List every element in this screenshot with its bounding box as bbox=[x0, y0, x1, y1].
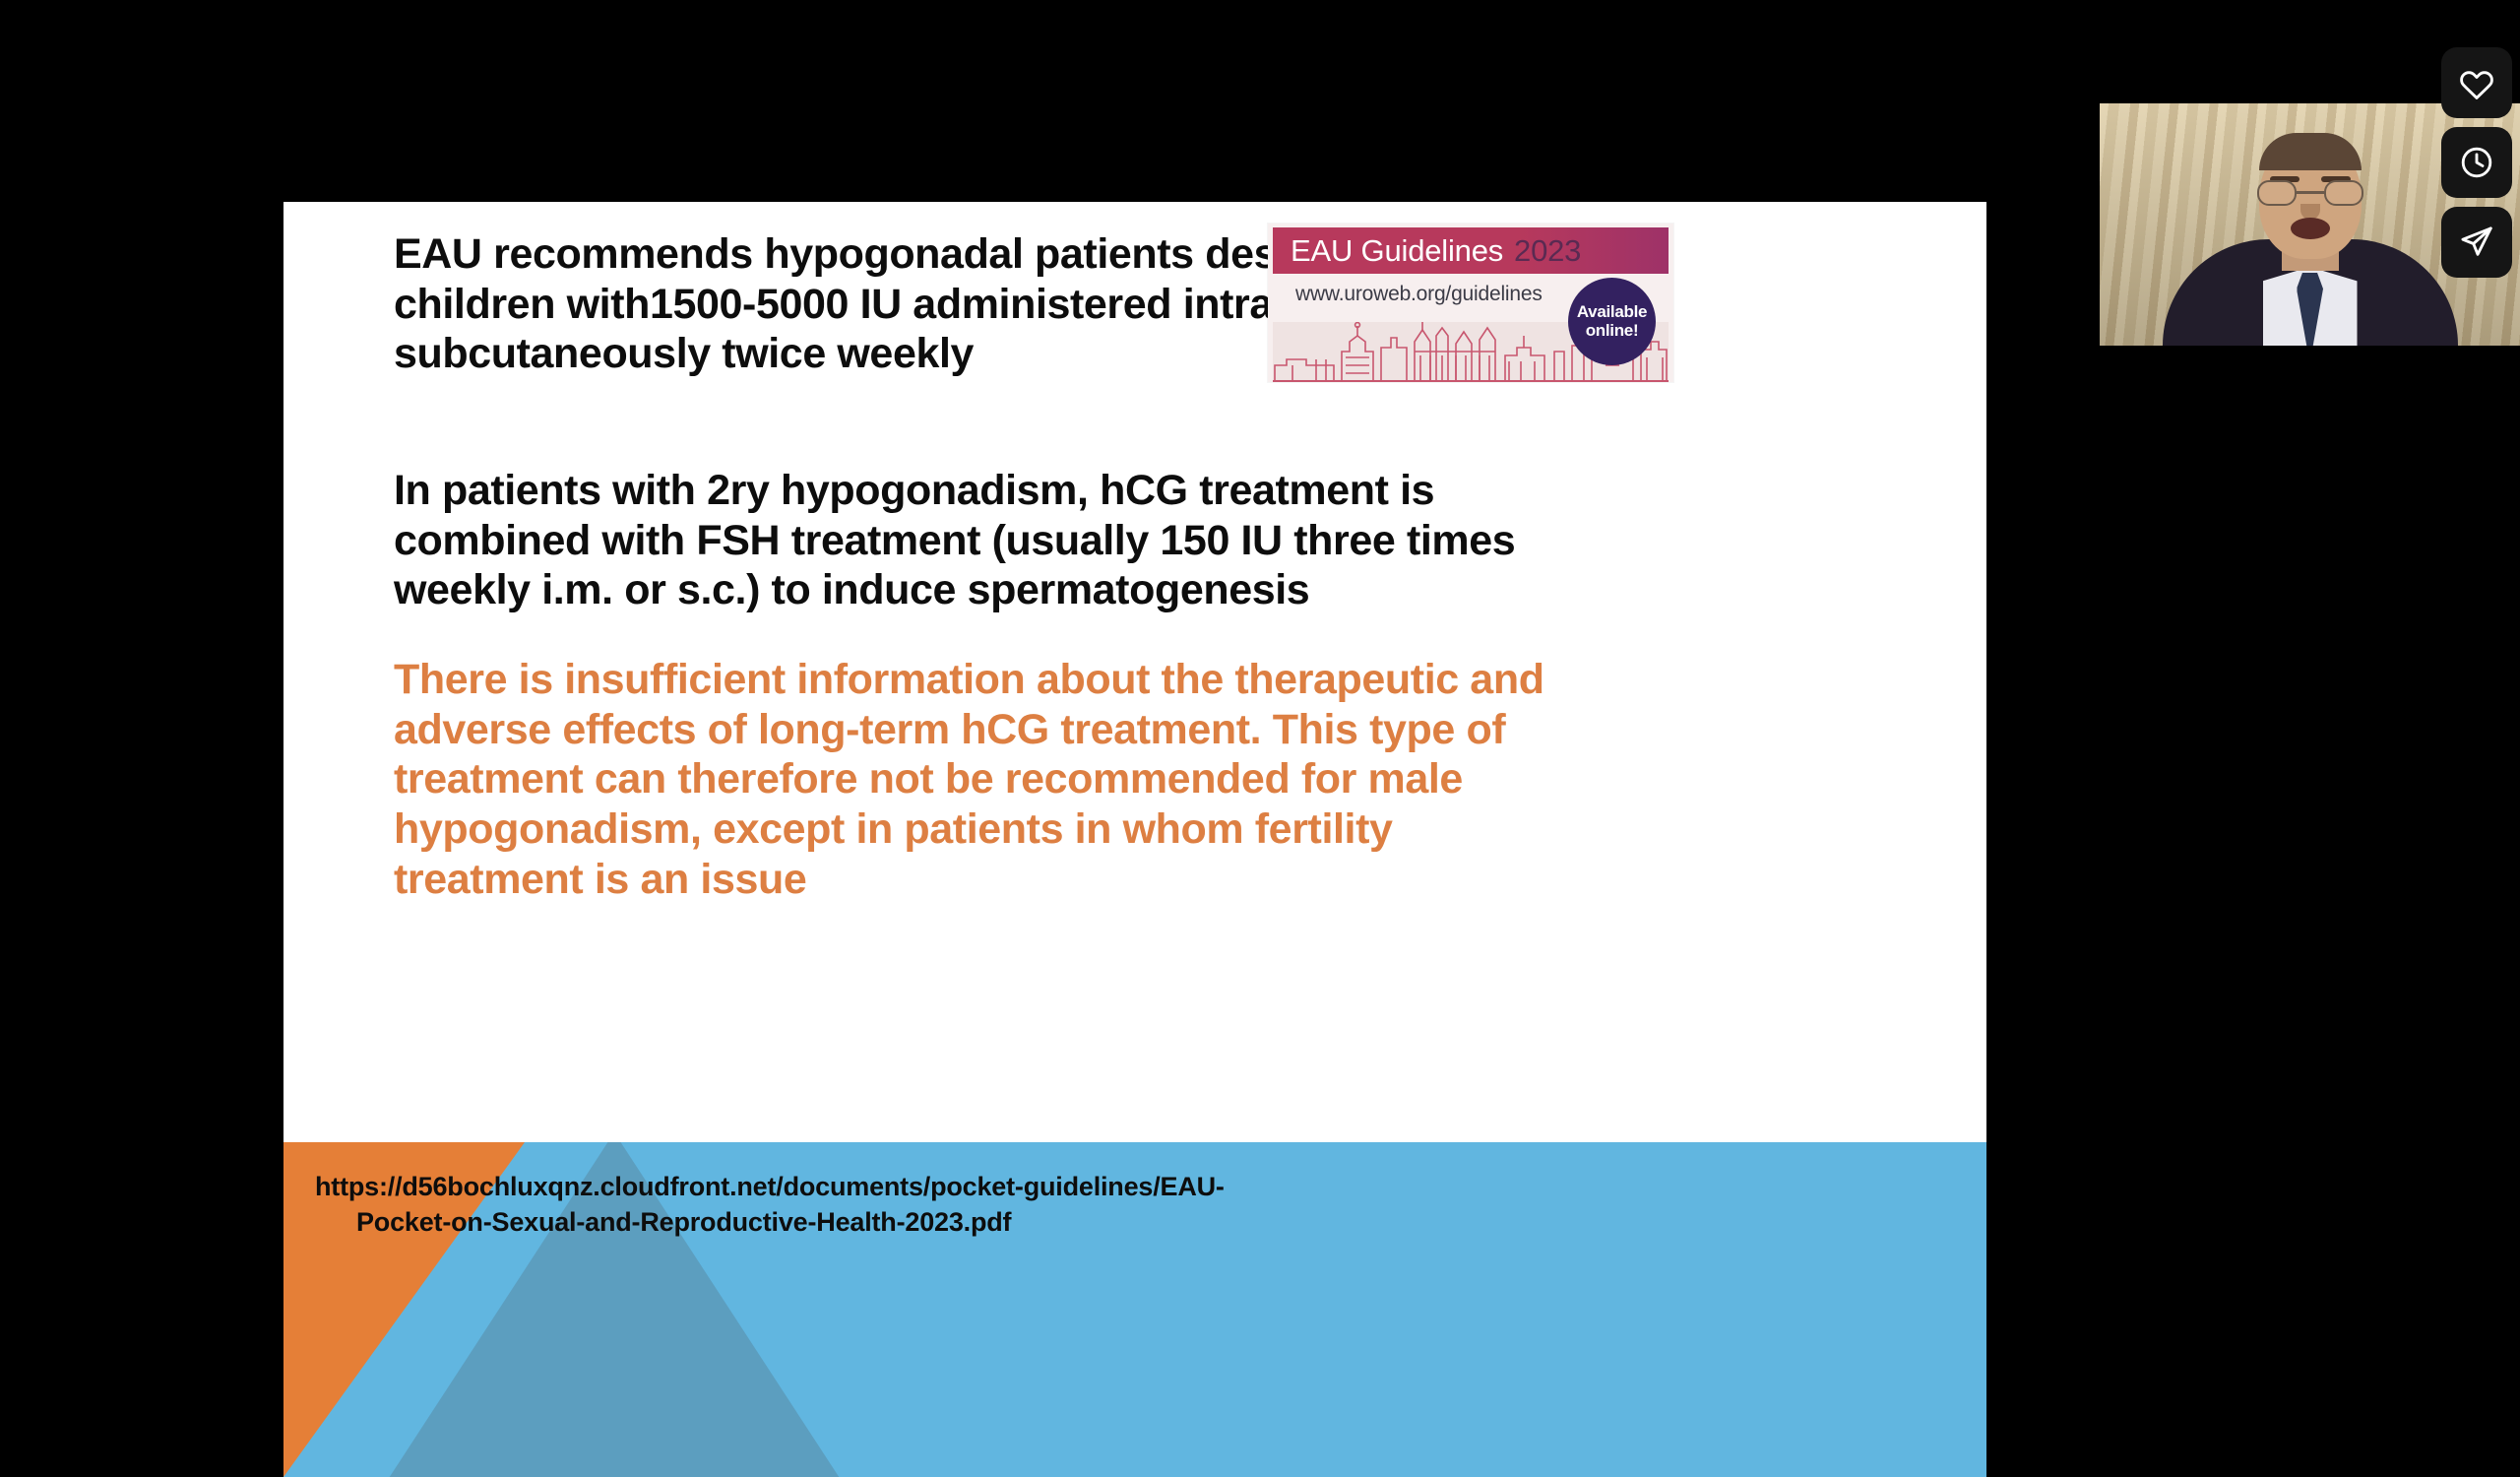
glasses-bridge bbox=[2297, 191, 2324, 194]
presenter-glasses bbox=[2257, 180, 2363, 206]
paragraph-insufficient-information: There is insufficient information about … bbox=[394, 655, 1555, 905]
eau-banner-titlebar: EAU Guidelines 2023 bbox=[1273, 227, 1669, 274]
clock-icon bbox=[2459, 145, 2494, 180]
source-url-line-1: https://d56bochluxqnz.cloudfront.net/doc… bbox=[315, 1172, 1225, 1201]
eau-banner-title: EAU Guidelines bbox=[1291, 233, 1503, 269]
presentation-slide: EAU recommends hypogonadal patients desi… bbox=[283, 202, 1986, 1477]
like-button[interactable] bbox=[2441, 47, 2512, 118]
heart-icon bbox=[2459, 65, 2494, 100]
eau-guidelines-banner: EAU Guidelines 2023 www.uroweb.org/guide… bbox=[1268, 224, 1673, 382]
eau-badge-line-1: Available bbox=[1577, 303, 1647, 322]
slide-footer-band: https://d56bochluxqnz.cloudfront.net/doc… bbox=[283, 1142, 1986, 1477]
glasses-lens-right bbox=[2324, 180, 2363, 206]
paragraph-fsh-combination: In patients with 2ry hypogonadism, hCG t… bbox=[394, 466, 1555, 615]
slide-source-url: https://d56bochluxqnz.cloudfront.net/doc… bbox=[315, 1170, 1575, 1240]
share-button[interactable] bbox=[2441, 207, 2512, 278]
eau-banner-website: www.uroweb.org/guidelines bbox=[1295, 283, 1543, 306]
eau-banner-year: 2023 bbox=[1514, 233, 1581, 269]
eau-available-online-badge: Available online! bbox=[1568, 278, 1656, 365]
action-button-rail bbox=[2441, 47, 2512, 278]
source-url-line-2: Pocket-on-Sexual-and-Reproductive-Health… bbox=[315, 1205, 1575, 1241]
eau-badge-line-2: online! bbox=[1586, 322, 1639, 341]
slide-content-area: EAU recommends hypogonadal patients desi… bbox=[283, 202, 1986, 1142]
send-icon bbox=[2459, 225, 2494, 260]
glasses-lens-left bbox=[2257, 180, 2297, 206]
presenter-mouth bbox=[2291, 218, 2330, 239]
watch-later-button[interactable] bbox=[2441, 127, 2512, 198]
presenter-figure bbox=[2163, 183, 2458, 346]
video-player-stage[interactable]: EAU recommends hypogonadal patients desi… bbox=[0, 0, 2520, 1477]
